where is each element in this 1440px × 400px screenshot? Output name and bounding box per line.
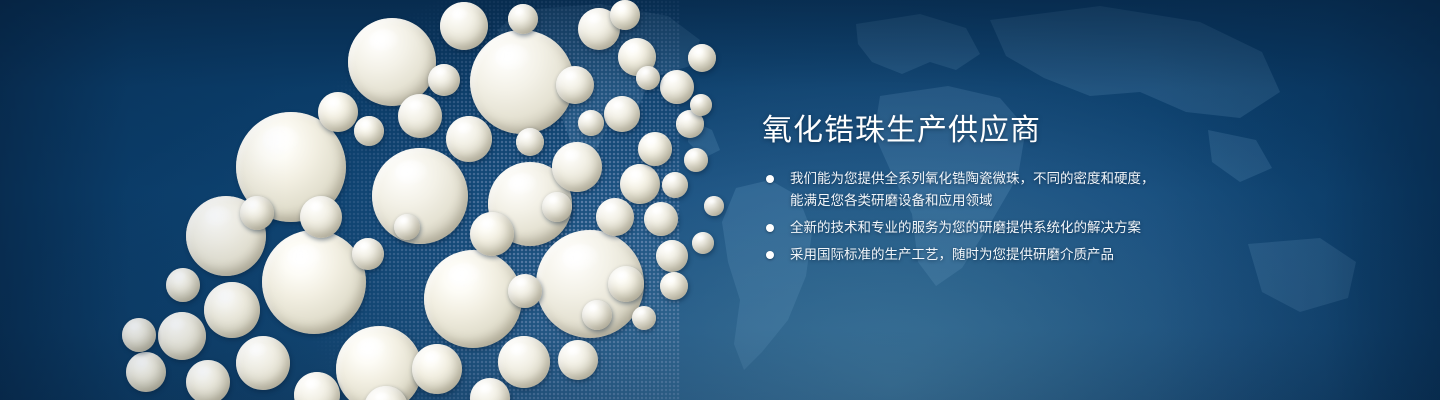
hero-banner: 氧化锆珠生产供应商 我们能为您提供全系列氧化锆陶瓷微珠，不同的密度和硬度， 能满…: [0, 0, 1440, 400]
edge-shading-overlay: [0, 0, 1440, 400]
